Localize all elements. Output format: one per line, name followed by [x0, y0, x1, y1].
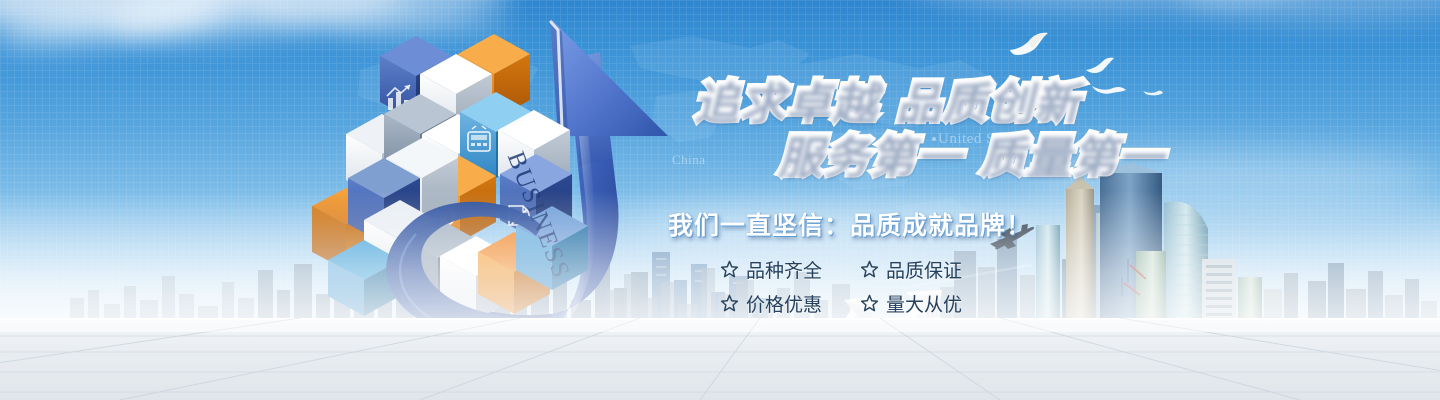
promo-banner: Europe United States China Australia — [0, 0, 1440, 400]
feature-item: 价格优惠 — [720, 290, 846, 317]
star-outline-icon — [720, 260, 739, 279]
feature-item: 量大从优 — [860, 290, 986, 317]
headline-segment: 创新 — [988, 74, 1080, 130]
feature-list: 品种齐全 品质保证 价格优惠 — [720, 256, 1208, 317]
headline-line-2: 服务第一质量第一 — [668, 128, 1208, 184]
copy-block: 追求卓越品质创新 服务第一质量第一 我们一直坚信：品质成就品牌！ 品种齐全 — [668, 74, 1208, 317]
headline-segment: 服务 — [778, 128, 870, 184]
feature-item: 品质保证 — [860, 256, 986, 283]
headline-segment: 质量 — [980, 128, 1072, 184]
star-outline-icon — [860, 294, 879, 313]
dove-icon — [1085, 56, 1115, 76]
feature-item: 品种齐全 — [720, 256, 846, 283]
feature-label: 品质保证 — [886, 256, 962, 283]
feature-label: 量大从优 — [886, 290, 962, 317]
headline-segment: 第一 — [870, 128, 962, 184]
star-outline-icon — [720, 294, 739, 313]
headline-segment: 卓越 — [786, 74, 878, 130]
feature-label: 价格优惠 — [746, 290, 822, 317]
headline-segment: 品质 — [896, 74, 988, 130]
headline-segment: 第一 — [1072, 128, 1164, 184]
headline-segment: 追求 — [694, 74, 786, 130]
dove-icon — [1008, 30, 1052, 58]
banner-subtitle: 我们一直坚信：品质成就品牌！ — [668, 206, 1208, 242]
feature-label: 品种齐全 — [746, 256, 822, 283]
star-outline-icon — [860, 260, 879, 279]
headline-line-1: 追求卓越品质创新 — [668, 74, 1208, 130]
tiled-pavement — [0, 318, 1440, 400]
